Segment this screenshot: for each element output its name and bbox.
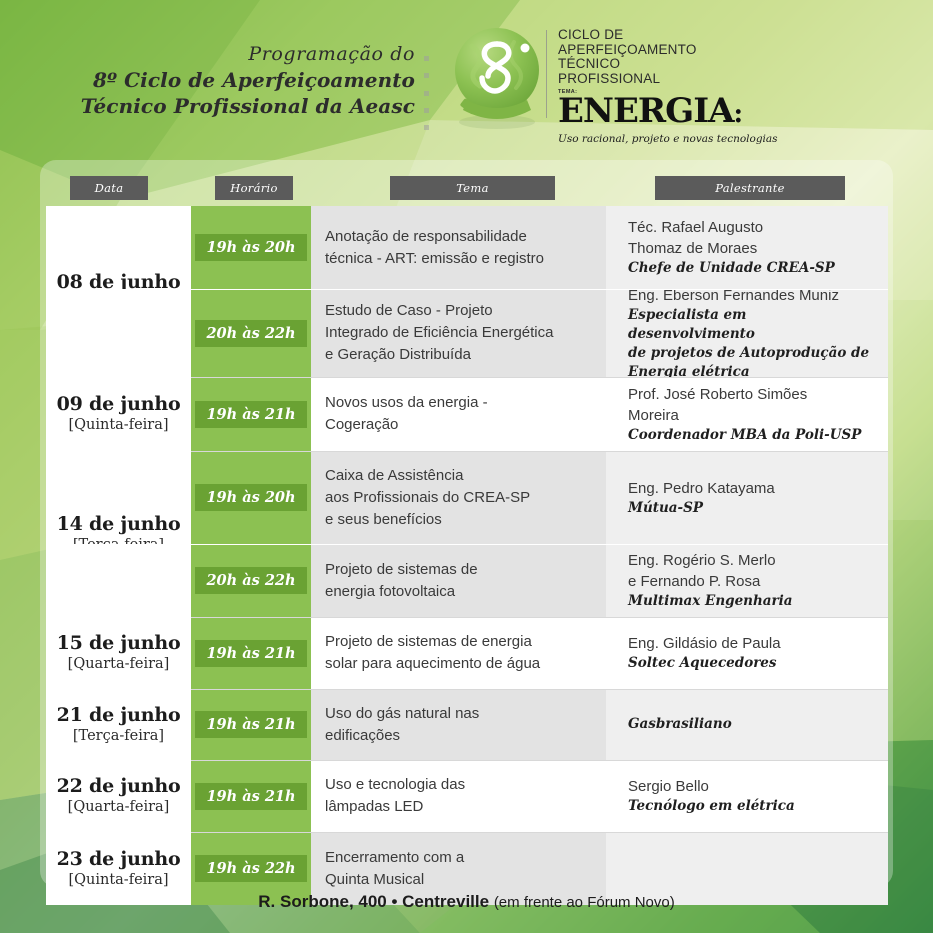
date-main: 23 de junho (46, 848, 191, 871)
title-line-1: Programação do (60, 42, 415, 67)
time-badge: 19h às 21h (195, 783, 306, 810)
cell-palestrante: Eng. Pedro KatayamaMútua-SP (606, 451, 888, 544)
column-header-data: Data (70, 176, 148, 200)
palestrante-role-line: Mútua-SP (628, 499, 775, 518)
cell-tema: Novos usos da energia -Cogeração (311, 377, 606, 451)
energia-colon: : (733, 99, 742, 129)
cell-palestrante: Eng. Eberson Fernandes MunizEspecialista… (606, 289, 888, 377)
date-weekday: [Quinta-feira] (46, 416, 191, 435)
title-line-2: 8º Ciclo de Aperfeiçoamento (60, 67, 415, 93)
tema-text: Caixa de Assistênciaaos Profissionais do… (325, 465, 530, 531)
cell-palestrante: Prof. José Roberto SimõesMoreiraCoordena… (606, 377, 888, 451)
tema-text: Projeto de sistemas deenergia fotovoltai… (325, 559, 478, 603)
cell-tema: Estudo de Caso - ProjetoIntegrado de Efi… (311, 289, 606, 377)
tema-text: Novos usos da energia -Cogeração (325, 392, 488, 436)
logo-vertical-divider (546, 30, 547, 118)
logo-line-1: CICLO DE (558, 28, 888, 43)
palestrante-block: Prof. José Roberto SimõesMoreiraCoordena… (628, 384, 861, 445)
logo-text-block: CICLO DE APERFEIÇOAMENTO TÉCNICO PROFISS… (558, 28, 888, 145)
tema-line: e seus benefícios (325, 509, 530, 531)
tema-line: edificações (325, 725, 479, 747)
date-main: 09 de junho (46, 393, 191, 416)
cell-tema: Caixa de Assistênciaaos Profissionais do… (311, 451, 606, 544)
palestrante-name-line: Eng. Gildásio de Paula (628, 633, 781, 654)
table-row: 15 de junho[Quarta-feira]19h às 21hProje… (46, 617, 888, 689)
date-label-group: 23 de junho[Quinta-feira] (46, 848, 191, 890)
palestrante-role-line: Coordenador MBA da Poli-USP (628, 426, 861, 445)
cell-date (46, 544, 191, 617)
date-main: 14 de junho (46, 513, 191, 536)
cell-horario: 19h às 20h (191, 206, 311, 289)
cell-date: 09 de junho[Quinta-feira] (46, 377, 191, 451)
energia-subtitle: Uso racional, projeto e novas tecnologia… (558, 133, 888, 145)
date-weekday: [Quinta-feira] (46, 871, 191, 890)
cell-date: 08 de junho[Quarta-feira] (46, 206, 191, 289)
time-badge: 19h às 20h (195, 484, 306, 511)
date-weekday: [Quarta-feira] (46, 798, 191, 817)
tema-line: Integrado de Eficiência Energética (325, 322, 553, 344)
time-badge: 19h às 22h (195, 855, 306, 882)
table-column-headers: Data Horário Tema Palestrante (40, 176, 893, 202)
time-badge: 19h às 21h (195, 711, 306, 738)
schedule-table: 08 de junho[Quarta-feira]19h às 20hAnota… (46, 206, 888, 905)
energia-word: ENERGIA (558, 91, 733, 131)
palestrante-block: Eng. Gildásio de PaulaSoltec Aquecedores (628, 633, 781, 673)
column-header-horario: Horário (215, 176, 293, 200)
palestrante-block: Eng. Eberson Fernandes MunizEspecialista… (628, 285, 874, 382)
palestrante-block: Eng. Pedro KatayamaMútua-SP (628, 478, 775, 518)
cell-horario: 19h às 20h (191, 451, 311, 544)
palestrante-name-line: Eng. Pedro Katayama (628, 478, 775, 499)
tema-line: técnica - ART: emissão e registro (325, 248, 544, 270)
cell-horario: 19h às 21h (191, 689, 311, 760)
cell-tema: Uso do gás natural nasedificações (311, 689, 606, 760)
palestrante-name-line: Prof. José Roberto Simões (628, 384, 861, 405)
tema-line: Anotação de responsabilidade (325, 226, 544, 248)
date-main: 15 de junho (46, 632, 191, 655)
palestrante-name-line: Moreira (628, 405, 861, 426)
table-row: 09 de junho[Quinta-feira]19h às 21hNovos… (46, 377, 888, 451)
page-header: Programação do 8º Ciclo de Aperfeiçoamen… (0, 0, 933, 160)
date-main: 22 de junho (46, 775, 191, 798)
palestrante-block: Eng. Rogério S. Merloe Fernando P. RosaM… (628, 550, 793, 611)
lightbulb-globe-logo-icon (442, 22, 552, 137)
palestrante-block: Téc. Rafael AugustoThomaz de MoraesChefe… (628, 217, 835, 278)
date-label-group: 09 de junho[Quinta-feira] (46, 393, 191, 435)
palestrante-role-line: Tecnólogo em elétrica (628, 797, 795, 816)
cell-date: 21 de junho[Terça-feira] (46, 689, 191, 760)
tema-line: Encerramento com a (325, 847, 464, 869)
cell-date: 14 de junho[Terça-feira] (46, 451, 191, 544)
palestrante-role-line: Multimax Engenharia (628, 592, 793, 611)
time-badge: 19h às 21h (195, 640, 306, 667)
palestrante-role-line: Especialista em desenvolvimento (628, 306, 874, 344)
cell-tema: Projeto de sistemas de energiasolar para… (311, 617, 606, 689)
palestrante-block: Sergio BelloTecnólogo em elétrica (628, 776, 795, 816)
dotted-divider (424, 56, 430, 130)
tema-line: lâmpadas LED (325, 796, 465, 818)
palestrante-name-line: Sergio Bello (628, 776, 795, 797)
tema-text: Anotação de responsabilidadetécnica - AR… (325, 226, 544, 270)
tema-line: Quinta Musical (325, 869, 464, 891)
palestrante-name-line: Thomaz de Moraes (628, 238, 835, 259)
column-header-tema: Tema (390, 176, 555, 200)
time-badge: 19h às 21h (195, 401, 306, 428)
palestrante-role-line: Chefe de Unidade CREA-SP (628, 259, 835, 278)
footer-address: R. Sorbone, 400 • Centreville (258, 892, 494, 911)
cell-horario: 19h às 21h (191, 617, 311, 689)
cell-palestrante: Sergio BelloTecnólogo em elétrica (606, 760, 888, 832)
tema-line: Estudo de Caso - Projeto (325, 300, 553, 322)
table-row: 14 de junho[Terça-feira]19h às 20hCaixa … (46, 451, 888, 544)
palestrante-name-line: e Fernando P. Rosa (628, 571, 793, 592)
palestrante-block: Gasbrasiliano (628, 715, 732, 734)
cell-tema: Uso e tecnologia daslâmpadas LED (311, 760, 606, 832)
date-weekday: [Terça-feira] (46, 727, 191, 746)
energia-wordmark: ENERGIA: (558, 95, 888, 131)
tema-line: Projeto de sistemas de (325, 559, 478, 581)
date-main: 21 de junho (46, 704, 191, 727)
date-label-group: 15 de junho[Quarta-feira] (46, 632, 191, 674)
tema-line: e Geração Distribuída (325, 344, 553, 366)
tema-text: Uso e tecnologia daslâmpadas LED (325, 774, 465, 818)
logo-line-3: TÉCNICO (558, 57, 888, 72)
cell-tema: Projeto de sistemas deenergia fotovoltai… (311, 544, 606, 617)
table-row: 21 de junho[Terça-feira]19h às 21hUso do… (46, 689, 888, 760)
footer-address-note: (em frente ao Fórum Novo) (494, 894, 675, 911)
cell-horario: 19h às 21h (191, 377, 311, 451)
cell-palestrante: Gasbrasiliano (606, 689, 888, 760)
column-header-palestrante: Palestrante (655, 176, 845, 200)
tema-text: Projeto de sistemas de energiasolar para… (325, 631, 540, 675)
palestrante-role-line: Soltec Aquecedores (628, 654, 781, 673)
tema-line: Caixa de Assistência (325, 465, 530, 487)
logo-line-2: APERFEIÇOAMENTO (558, 43, 888, 58)
venue-footer: R. Sorbone, 400 • Centreville (em frente… (0, 892, 933, 912)
title-line-3: Técnico Profissional da Aeasc (60, 93, 415, 119)
palestrante-name-line: Eng. Eberson Fernandes Muniz (628, 285, 874, 306)
tema-line: aos Profissionais do CREA-SP (325, 487, 530, 509)
cell-horario: 19h às 21h (191, 760, 311, 832)
palestrante-name-line: Téc. Rafael Augusto (628, 217, 835, 238)
event-title: Programação do 8º Ciclo de Aperfeiçoamen… (60, 42, 415, 119)
tema-line: solar para aquecimento de água (325, 653, 540, 675)
cell-date (46, 289, 191, 377)
tema-line: Cogeração (325, 414, 488, 436)
date-weekday: [Quarta-feira] (46, 655, 191, 674)
cell-horario: 20h às 22h (191, 289, 311, 377)
tema-text: Encerramento com aQuinta Musical (325, 847, 464, 891)
tema-line: Novos usos da energia - (325, 392, 488, 414)
logo-line-4: PROFISSIONAL (558, 72, 888, 87)
tema-line: Uso e tecnologia das (325, 774, 465, 796)
time-badge: 20h às 22h (195, 320, 306, 347)
tema-line: Uso do gás natural nas (325, 703, 479, 725)
cell-date: 15 de junho[Quarta-feira] (46, 617, 191, 689)
table-row: 08 de junho[Quarta-feira]19h às 20hAnota… (46, 206, 888, 289)
time-badge: 20h às 22h (195, 567, 306, 594)
palestrante-role-line: Gasbrasiliano (628, 715, 732, 734)
row-divider-partial (191, 289, 888, 290)
row-divider-partial (191, 544, 888, 545)
tema-line: energia fotovoltaica (325, 581, 478, 603)
cell-tema: Anotação de responsabilidadetécnica - AR… (311, 206, 606, 289)
tema-line: Projeto de sistemas de energia (325, 631, 540, 653)
palestrante-role-line: de projetos de Autoprodução de (628, 344, 874, 363)
tema-text: Uso do gás natural nasedificações (325, 703, 479, 747)
cell-palestrante: Eng. Rogério S. Merloe Fernando P. RosaM… (606, 544, 888, 617)
cell-horario: 20h às 22h (191, 544, 311, 617)
table-row: 20h às 22hProjeto de sistemas deenergia … (46, 544, 888, 617)
date-label-group: 22 de junho[Quarta-feira] (46, 775, 191, 817)
table-row: 20h às 22hEstudo de Caso - ProjetoIntegr… (46, 289, 888, 377)
cell-palestrante: Téc. Rafael AugustoThomaz de MoraesChefe… (606, 206, 888, 289)
tema-text: Estudo de Caso - ProjetoIntegrado de Efi… (325, 300, 553, 366)
cell-date: 22 de junho[Quarta-feira] (46, 760, 191, 832)
table-row: 22 de junho[Quarta-feira]19h às 21hUso e… (46, 760, 888, 832)
date-label-group: 21 de junho[Terça-feira] (46, 704, 191, 746)
palestrante-name-line: Eng. Rogério S. Merlo (628, 550, 793, 571)
time-badge: 19h às 20h (195, 234, 306, 261)
cell-palestrante: Eng. Gildásio de PaulaSoltec Aquecedores (606, 617, 888, 689)
